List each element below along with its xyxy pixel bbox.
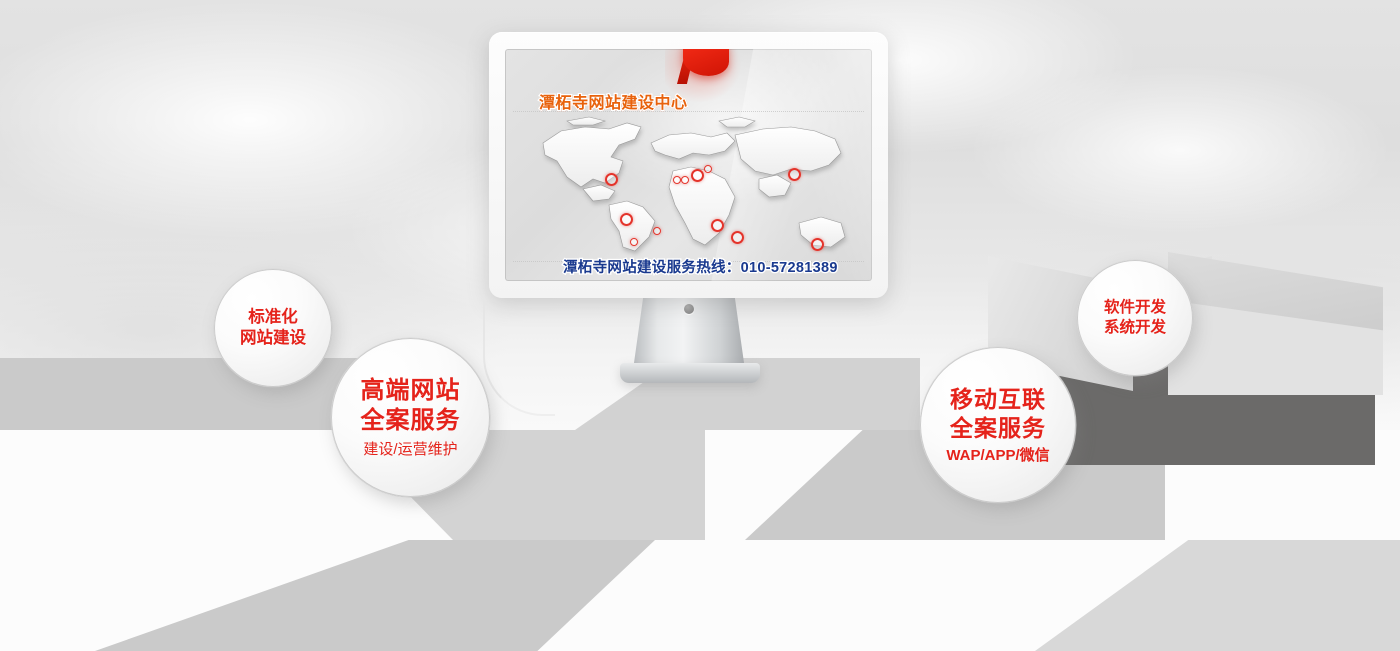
marker-east-europe: [704, 165, 712, 173]
marker-south-america-east: [653, 227, 661, 235]
marker-south-america-north: [620, 213, 633, 226]
bubble-standard-website-construction[interactable]: 标准化 网站建设: [214, 269, 332, 387]
bubble-line2: 全案服务: [361, 406, 461, 437]
computer-monitor: 潭柘寺网站建设中心 潭柘寺网站建设服务热线：010-57281389: [489, 32, 888, 298]
marker-central-europe: [691, 169, 704, 182]
camera-dot-icon: [684, 304, 694, 314]
marker-iberia: [673, 176, 681, 184]
marker-western-europe: [681, 176, 689, 184]
marker-south-america-south: [630, 238, 638, 246]
bubble-mobile-internet-full-service[interactable]: 移动互联 全案服务 WAP/APP/微信: [920, 347, 1076, 503]
bubble-line1: 软件开发: [1104, 298, 1166, 318]
marker-north-america: [605, 173, 618, 186]
screen-hotline: 潭柘寺网站建设服务热线：010-57281389: [563, 256, 838, 277]
cable-icon: [483, 294, 555, 416]
bubble-line1: 移动互联: [950, 385, 1046, 414]
bubble-line3: WAP/APP/微信: [946, 446, 1049, 466]
bubble-line3: 建设/运营维护: [363, 440, 457, 460]
bubble-software-system-development[interactable]: 软件开发 系统开发: [1077, 260, 1193, 376]
marker-east-asia: [788, 168, 801, 181]
bubble-premium-website-full-service[interactable]: 高端网站 全案服务 建设/运营维护: [331, 338, 490, 497]
bubble-line2: 系统开发: [1104, 318, 1166, 338]
monitor-screen: 潭柘寺网站建设中心 潭柘寺网站建设服务热线：010-57281389: [505, 49, 872, 281]
world-map-icon: [523, 113, 853, 258]
hero-banner: 潭柘寺网站建设中心 潭柘寺网站建设服务热线：010-57281389 标准化 网…: [0, 0, 1400, 651]
marker-australia: [811, 238, 824, 251]
marker-east-africa: [731, 231, 744, 244]
bubble-line1: 高端网站: [361, 376, 461, 407]
ribbon-bookmark-icon: [677, 49, 731, 90]
monitor-stand-base: [620, 363, 760, 383]
bubble-line1: 标准化: [248, 307, 298, 328]
marker-west-africa: [711, 219, 724, 232]
bubble-line2: 全案服务: [950, 414, 1046, 443]
bubble-line2: 网站建设: [240, 328, 306, 349]
